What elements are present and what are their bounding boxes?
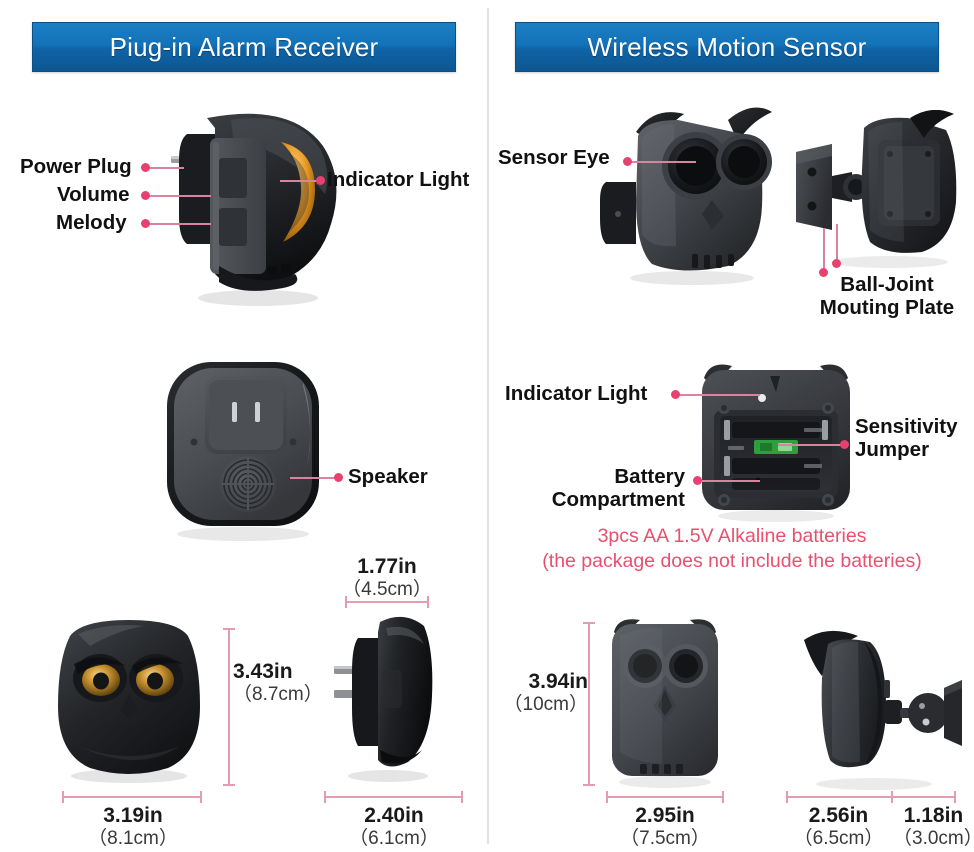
infographic-canvas: Piug-in Alarm Receiver	[0, 0, 974, 852]
dot-power-plug	[141, 163, 150, 172]
dim-rule-receiver-side-depth	[324, 796, 463, 798]
panel-divider	[487, 8, 489, 844]
leader-indicator-light-sensor	[678, 394, 760, 396]
callout-power-plug: Power Plug	[20, 155, 132, 179]
left-panel-title: Piug-in Alarm Receiver	[110, 32, 379, 63]
receiver-side-view-image	[163, 98, 353, 308]
leader-volume	[148, 195, 211, 197]
callout-ball-joint-line1: Ball-Joint	[797, 274, 974, 297]
leader-sensor-eye	[630, 161, 696, 163]
sensor-mount-plate-image	[790, 110, 966, 270]
left-panel-header: Piug-in Alarm Receiver	[32, 22, 456, 72]
dot-ball-joint-a	[819, 268, 828, 277]
dim-rule-sensor-height	[588, 622, 590, 786]
leader-speaker	[290, 477, 338, 479]
dim-sensor-width-cm: （7.5cm）	[610, 828, 720, 850]
leader-battery-compartment	[700, 480, 760, 482]
receiver-back-view-image	[143, 358, 343, 543]
callout-melody: Melody	[56, 211, 127, 235]
battery-note-line1: 3pcs AA 1.5V Alkaline batteries	[490, 524, 974, 549]
dim-receiver-height-cm: （8.7cm）	[233, 684, 343, 706]
callout-sensor-eye: Sensor Eye	[498, 146, 610, 170]
dim-rule-sensor-width	[606, 796, 724, 798]
callout-sensitivity-line1: Sensitivity	[855, 416, 974, 439]
sensor-angled-view-image	[592, 96, 792, 286]
dim-receiver-height: 3.43in （8.7cm）	[233, 660, 343, 706]
dim-receiver-front-width: 3.19in （8.1cm）	[78, 804, 188, 850]
dim-sensor-height-cm: （10cm）	[502, 694, 588, 716]
callout-ball-joint-mounting-plate: Ball-Joint Mouting Plate	[797, 274, 974, 320]
sensor-side-view-image	[782, 614, 972, 792]
right-panel-title: Wireless Motion Sensor	[588, 32, 867, 63]
dim-sensor-body-depth-in: 2.56in	[786, 804, 891, 828]
dot-volume	[141, 191, 150, 200]
sensor-battery-compartment-image	[688, 358, 864, 522]
dot-ball-joint-b	[832, 259, 841, 268]
dim-sensor-width: 2.95in （7.5cm）	[610, 804, 720, 850]
dot-indicator-light-receiver	[316, 176, 325, 185]
dim-sensor-mount-depth-in: 1.18in	[893, 804, 974, 828]
dot-battery-compartment	[693, 476, 702, 485]
callout-battery-line1: Battery	[520, 466, 685, 489]
callout-speaker: Speaker	[348, 465, 428, 489]
sensor-front-view-image	[600, 614, 730, 789]
dot-speaker	[334, 473, 343, 482]
leader-ball-joint-b	[836, 224, 838, 264]
dim-receiver-height-in: 3.43in	[233, 660, 343, 684]
right-panel-header: Wireless Motion Sensor	[515, 22, 939, 72]
battery-note: 3pcs AA 1.5V Alkaline batteries (the pac…	[490, 524, 974, 574]
callout-indicator-light-receiver: Indicator Light	[327, 168, 469, 192]
dim-receiver-side-depth-cm: （6.1cm）	[339, 828, 449, 850]
callout-indicator-light-sensor: Indicator Light	[505, 382, 647, 406]
dim-receiver-side-depth: 2.40in （6.1cm）	[339, 804, 449, 850]
dot-sensor-eye	[623, 157, 632, 166]
dim-receiver-width-in: 1.77in	[334, 555, 440, 579]
receiver-front-view-image	[48, 614, 210, 784]
leader-indicator-light-receiver	[280, 180, 321, 182]
dot-indicator-light-sensor	[671, 390, 680, 399]
dim-receiver-front-width-cm: （8.1cm）	[78, 828, 188, 850]
callout-sensitivity-line2: Jumper	[855, 439, 974, 462]
dim-receiver-front-width-in: 3.19in	[78, 804, 188, 828]
leader-melody	[148, 223, 211, 225]
callout-ball-joint-line2: Mouting Plate	[797, 297, 974, 320]
dim-sensor-height: 3.94in （10cm）	[502, 670, 588, 716]
battery-note-line2: (the package does not include the batter…	[490, 549, 974, 574]
dim-receiver-side-depth-in: 2.40in	[339, 804, 449, 828]
dim-sensor-width-in: 2.95in	[610, 804, 720, 828]
dim-sensor-height-in: 3.94in	[502, 670, 588, 694]
leader-sensitivity-jumper	[778, 444, 846, 446]
dot-sensitivity-jumper	[840, 440, 849, 449]
dim-rule-receiver-width	[345, 601, 429, 603]
receiver-plug-side-image	[330, 604, 438, 784]
leader-power-plug	[148, 167, 184, 169]
callout-sensitivity-jumper: Sensitivity Jumper	[855, 416, 974, 462]
dim-sensor-body-depth-cm: （6.5cm）	[786, 828, 891, 850]
dim-receiver-width: 1.77in （4.5cm）	[334, 555, 440, 601]
dim-rule-sensor-depth-midtick	[891, 791, 893, 803]
dot-melody	[141, 219, 150, 228]
dim-rule-receiver-height	[228, 628, 230, 786]
dim-receiver-width-cm: （4.5cm）	[334, 579, 440, 601]
dim-sensor-mount-depth-cm: （3.0cm）	[893, 828, 974, 850]
dim-sensor-mount-depth: 1.18in （3.0cm）	[893, 804, 974, 850]
dim-rule-receiver-front-width	[62, 796, 202, 798]
dim-rule-sensor-depth	[786, 796, 956, 798]
callout-battery-compartment: Battery Compartment	[520, 466, 685, 512]
callout-battery-line2: Compartment	[520, 489, 685, 512]
callout-volume: Volume	[57, 183, 130, 207]
dim-sensor-body-depth: 2.56in （6.5cm）	[786, 804, 891, 850]
